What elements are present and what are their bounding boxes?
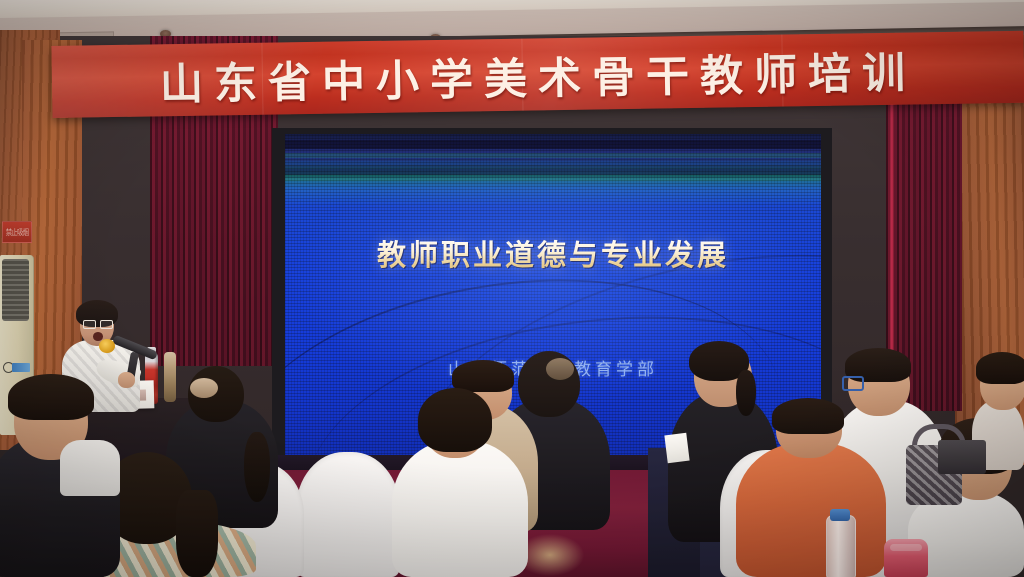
audience-paper bbox=[664, 433, 689, 463]
laptop bbox=[938, 440, 986, 474]
presenter-hand bbox=[118, 372, 135, 388]
water-bottle-cap bbox=[830, 509, 850, 521]
ac-grille bbox=[2, 259, 29, 321]
wall-sign-label: 禁止吸烟 bbox=[6, 227, 28, 238]
audience-hair-bun bbox=[546, 358, 574, 380]
screen-band-1 bbox=[285, 140, 821, 149]
banner-text: 山东省中小学美术骨干教师培训 bbox=[52, 37, 1024, 114]
event-banner: 山东省中小学美术骨干教师培训 bbox=[51, 31, 1024, 118]
audience-glasses bbox=[842, 376, 864, 391]
audience-body bbox=[736, 442, 886, 577]
audience-body bbox=[392, 440, 528, 577]
screen-band-5 bbox=[285, 178, 821, 181]
audience-hair bbox=[452, 360, 514, 392]
audience-ponytail bbox=[736, 370, 756, 416]
ac-badge bbox=[12, 363, 30, 372]
beverage-bottle bbox=[164, 352, 176, 402]
conference-photo: 禁止吸烟 教师职业道德与专业发展 山东师范大学教育学部 魏薇 山东省中小学美术骨… bbox=[0, 0, 1024, 577]
audience-hair-right bbox=[176, 490, 218, 577]
audience-hair bbox=[8, 374, 94, 420]
microphone-windscreen bbox=[99, 339, 115, 353]
audience-hair bbox=[418, 388, 492, 452]
wall-sign: 禁止吸烟 bbox=[2, 221, 32, 243]
slide-title: 教师职业道德与专业发展 bbox=[285, 232, 821, 274]
audience-hair bbox=[772, 398, 844, 434]
screen-band-2 bbox=[285, 153, 821, 158]
audience-ponytail bbox=[244, 432, 270, 502]
audience-hair-accessory bbox=[190, 378, 218, 398]
audience-hair bbox=[976, 352, 1024, 384]
screen-band-4 bbox=[285, 169, 821, 175]
thermos bbox=[884, 539, 928, 577]
chair bbox=[296, 452, 400, 577]
water-bottle bbox=[826, 515, 856, 577]
audience-collar bbox=[60, 440, 120, 496]
screen-band-3 bbox=[285, 161, 821, 165]
presenter-glasses bbox=[83, 320, 111, 327]
